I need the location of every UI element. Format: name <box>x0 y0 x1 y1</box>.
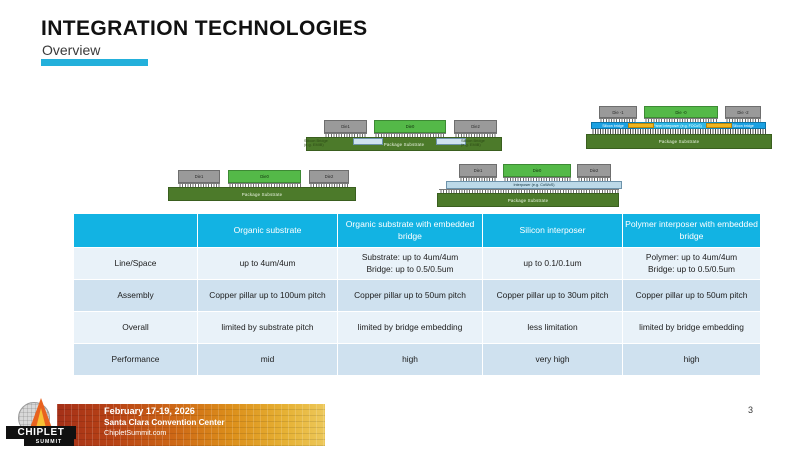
table-header-silicon-interposer: Silicon interposer <box>483 214 623 248</box>
title-block: INTEGRATION TECHNOLOGIES Overview <box>41 18 741 58</box>
row-label: Assembly <box>74 280 198 312</box>
table-cell: Polymer: up to 4um/4um Bridge: up to 0.5… <box>623 248 761 280</box>
table-cell: Copper pillar up to 50um pitch <box>338 280 483 312</box>
package-substrate: Package Substrate <box>586 134 772 149</box>
table-header-organic-substrate: Organic substrate <box>198 214 338 248</box>
table-header-polymer-embedded-bridge: Polymer interposer with embedded bridge <box>623 214 761 248</box>
table-cell: up to 0.1/0.1um <box>483 248 623 280</box>
die-block: Die0 <box>503 164 571 177</box>
diagram-silicon-interposer: Die1 Die0 Die2 Interposer (e.g. CoWoS) P… <box>437 162 619 208</box>
table-row: Assembly Copper pillar up to 100um pitch… <box>74 280 761 312</box>
diagram-polymer-interposer-embedded-bridge: Die -1 Die -0 Die -2 Silicon bridge Pane… <box>586 104 772 154</box>
die-block: Die -0 <box>644 106 718 118</box>
diagram-area: Die1 Die0 Die2 Package Substrate Die1 Di… <box>0 96 800 212</box>
die-block: Die1 <box>459 164 497 177</box>
table-header-organic-embedded-bridge: Organic substrate with embedded bridge <box>338 214 483 248</box>
table-cell: high <box>338 344 483 376</box>
footer-date: February 17-19, 2026 <box>104 406 344 418</box>
die-block: Die2 <box>454 120 497 133</box>
die-block: Die0 <box>374 120 446 133</box>
table-cell: Copper pillar up to 100um pitch <box>198 280 338 312</box>
chiplet-summit-logo: CHIPLET SUMMIT <box>6 398 78 446</box>
table-row: Line/Space up to 4um/4um Substrate: up t… <box>74 248 761 280</box>
die-block: Die0 <box>228 170 301 183</box>
table-row: Performance mid high very high high <box>74 344 761 376</box>
footer-text: February 17-19, 2026 Santa Clara Convent… <box>104 406 344 437</box>
table-cell: limited by bridge embedding <box>623 312 761 344</box>
embedded-bridge <box>353 138 383 145</box>
row-label: Performance <box>74 344 198 376</box>
table-cell: Copper pillar up to 30um pitch <box>483 280 623 312</box>
table-cell: limited by substrate pitch <box>198 312 338 344</box>
table-cell: mid <box>198 344 338 376</box>
bridge-caption-left: Silicon Bridge (e.g. EMIB) <box>304 139 352 148</box>
die-block: Die2 <box>309 170 349 183</box>
row-label: Overall <box>74 312 198 344</box>
package-substrate: Package Substrate <box>437 193 619 207</box>
table-cell: up to 4um/4um <box>198 248 338 280</box>
embedded-bridge <box>628 123 654 128</box>
table-header-row: Organic substrate Organic substrate with… <box>74 214 761 248</box>
flame-inner-icon <box>36 408 46 428</box>
bridge-caption-right: Silicon Bridge (e.g. EMIB) <box>461 139 509 148</box>
table-cell: Substrate: up to 4um/4um Bridge: up to 0… <box>338 248 483 280</box>
die-block: Die1 <box>324 120 367 133</box>
page-number: 3 <box>748 405 753 415</box>
logo-subwordmark: SUMMIT <box>24 438 74 446</box>
die-block: Die -2 <box>725 106 761 118</box>
table-cell: less limitation <box>483 312 623 344</box>
table-corner-cell <box>74 214 198 248</box>
package-substrate: Package Substrate <box>168 187 356 201</box>
footer-url: ChipletSummit.com <box>104 428 344 437</box>
die-block: Die -1 <box>599 106 637 118</box>
table-cell: very high <box>483 344 623 376</box>
interposer-layer: Interposer (e.g. CoWoS) <box>446 181 622 189</box>
diagram-organic-substrate: Die1 Die0 Die2 Package Substrate <box>168 166 356 206</box>
table-cell: high <box>623 344 761 376</box>
table-cell: Copper pillar up to 50um pitch <box>623 280 761 312</box>
diagram-organic-substrate-embedded-bridge: Die1 Die0 Die2 Package Substrate Silicon… <box>306 118 502 162</box>
row-label: Line/Space <box>74 248 198 280</box>
die-block: Die2 <box>577 164 611 177</box>
title-accent-bar <box>41 59 148 66</box>
page-title: INTEGRATION TECHNOLOGIES <box>41 18 741 40</box>
comparison-table: Organic substrate Organic substrate with… <box>73 213 761 376</box>
footer-venue: Santa Clara Convention Center <box>104 418 344 428</box>
die-block: Die1 <box>178 170 220 183</box>
page-subtitle: Overview <box>42 43 741 58</box>
table-cell: limited by bridge embedding <box>338 312 483 344</box>
embedded-bridge <box>706 123 732 128</box>
table-row: Overall limited by substrate pitch limit… <box>74 312 761 344</box>
